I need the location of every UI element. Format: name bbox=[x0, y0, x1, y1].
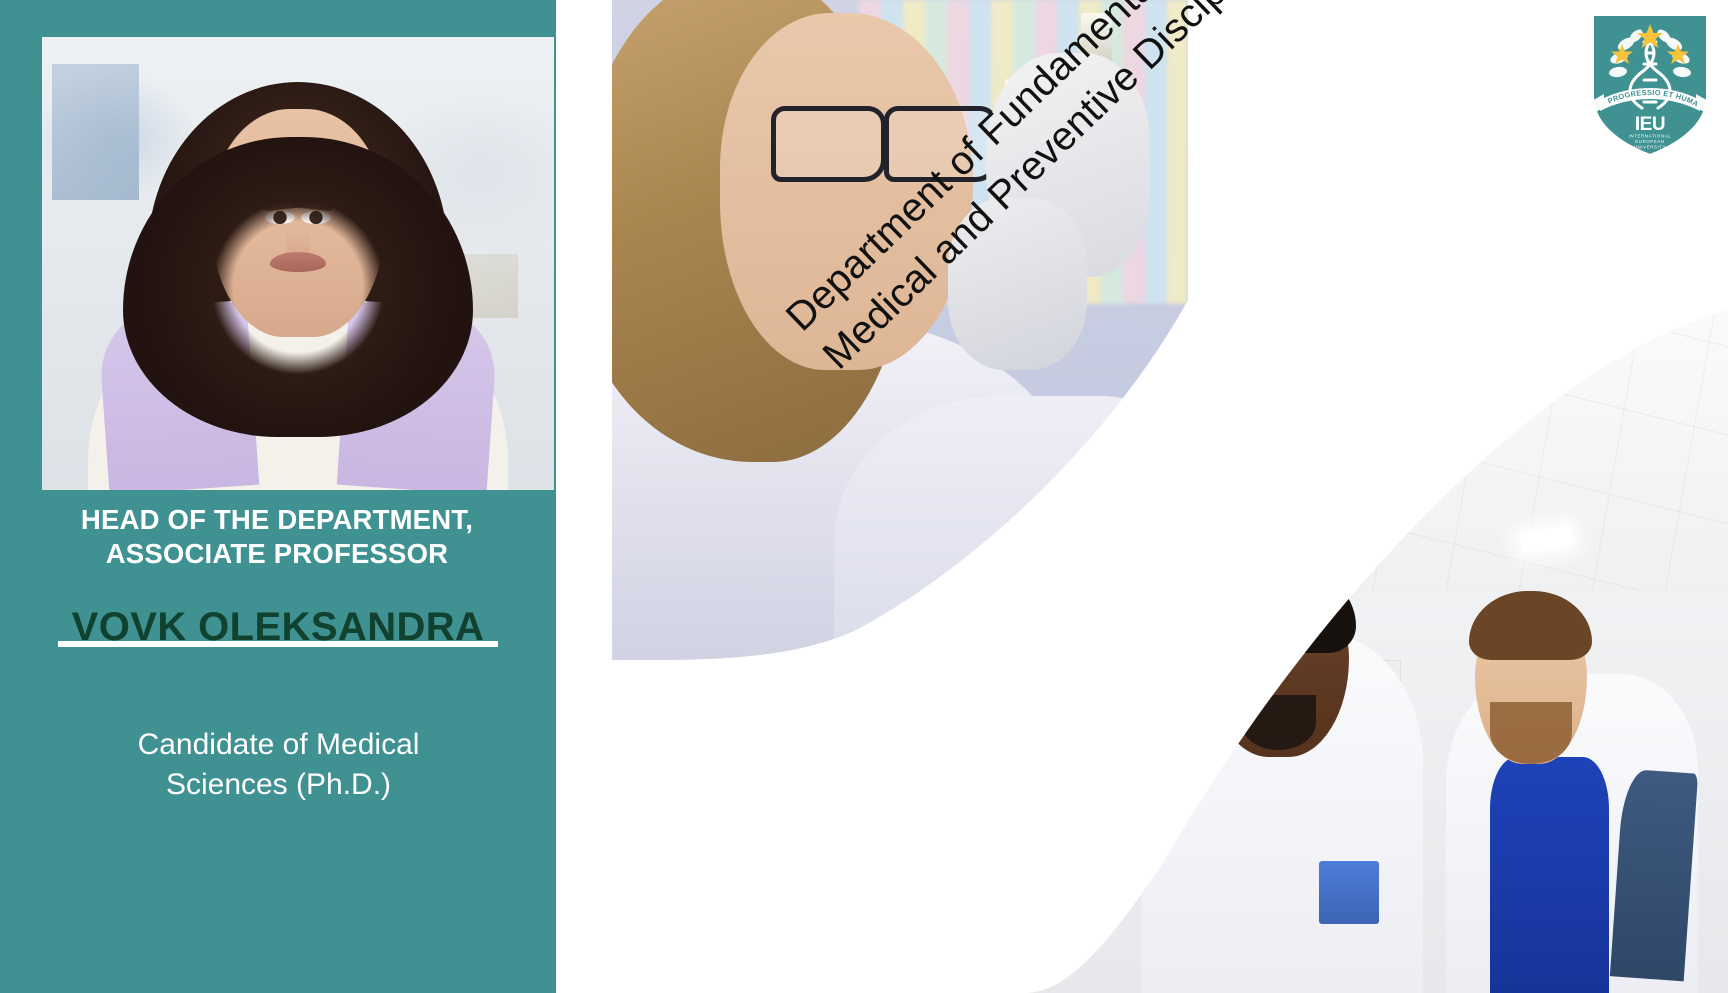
student-one-hair bbox=[1200, 563, 1356, 653]
person-name: VOVK OLEKSANDRA bbox=[28, 605, 528, 649]
person-degree: Candidate of Medical Sciences (Ph.D.) bbox=[56, 725, 501, 804]
ieu-university-shield-logo[interactable]: PROGRESSIO ET HUMANITAS IEU INTERNATIONA… bbox=[1586, 8, 1714, 160]
wall-poster bbox=[1089, 674, 1163, 792]
ceiling-light bbox=[1266, 503, 1328, 534]
lab-coat-shoulder bbox=[834, 396, 1188, 660]
role-title: HEAD OF THE DEPARTMENT, ASSOCIATE PROFES… bbox=[42, 503, 512, 572]
svg-text:UNIVERSITY: UNIVERSITY bbox=[1634, 145, 1666, 150]
student-one-beard bbox=[1241, 695, 1315, 750]
coat-ieu-logo bbox=[1319, 861, 1378, 923]
wall-poster-portrait bbox=[1109, 690, 1143, 738]
student-two-beard bbox=[1490, 702, 1572, 764]
slide-canvas: HEAD OF THE DEPARTMENT, ASSOCIATE PROFES… bbox=[0, 0, 1728, 993]
svg-text:EUROPEAN: EUROPEAN bbox=[1635, 139, 1664, 144]
ceiling-light bbox=[1414, 384, 1485, 423]
portrait-wall-picture bbox=[52, 64, 139, 200]
portrait-illustration bbox=[42, 37, 554, 490]
svg-text:IEU: IEU bbox=[1635, 114, 1665, 135]
portrait-photo bbox=[42, 37, 554, 490]
student-two-polo-shirt bbox=[1490, 757, 1609, 993]
svg-text:INTERNATIONAL: INTERNATIONAL bbox=[1629, 134, 1672, 139]
